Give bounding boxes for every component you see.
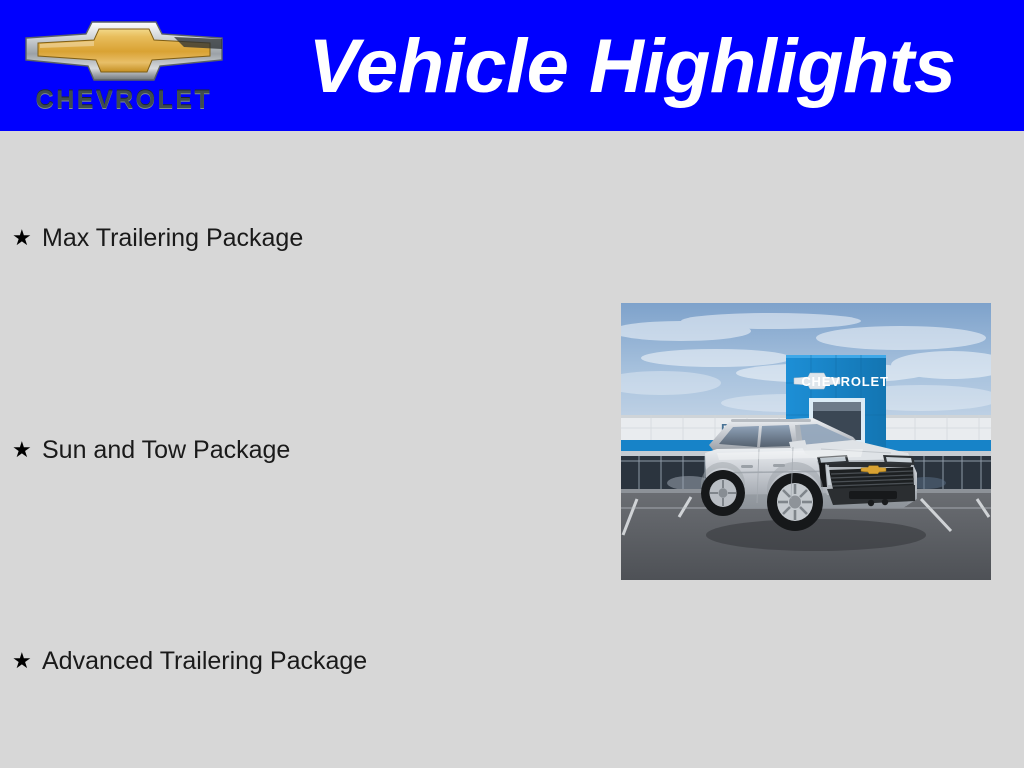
highlight-label: Sun and Tow Package [42,438,290,463]
list-item: ★ Advanced Trailering Package [12,644,367,678]
star-bullet-icon: ★ [12,227,42,249]
page-title: Vehicle Highlights [262,14,1002,118]
star-bullet-icon: ★ [12,650,42,672]
list-item: ★ Max Trailering Package [12,221,303,255]
chevrolet-bowtie-icon [24,16,224,88]
list-item: ★ Sun and Tow Package [12,433,290,467]
highlight-label: Advanced Trailering Package [42,649,367,674]
vehicle-photo: PHELPS CHEVROLET [621,303,991,580]
star-bullet-icon: ★ [12,439,42,461]
chevrolet-logo: CHEVROLET [18,14,230,120]
highlight-label: Max Trailering Package [42,226,303,251]
svg-text:CHEVROLET: CHEVROLET [801,374,888,389]
chevrolet-wordmark: CHEVROLET [18,88,230,113]
